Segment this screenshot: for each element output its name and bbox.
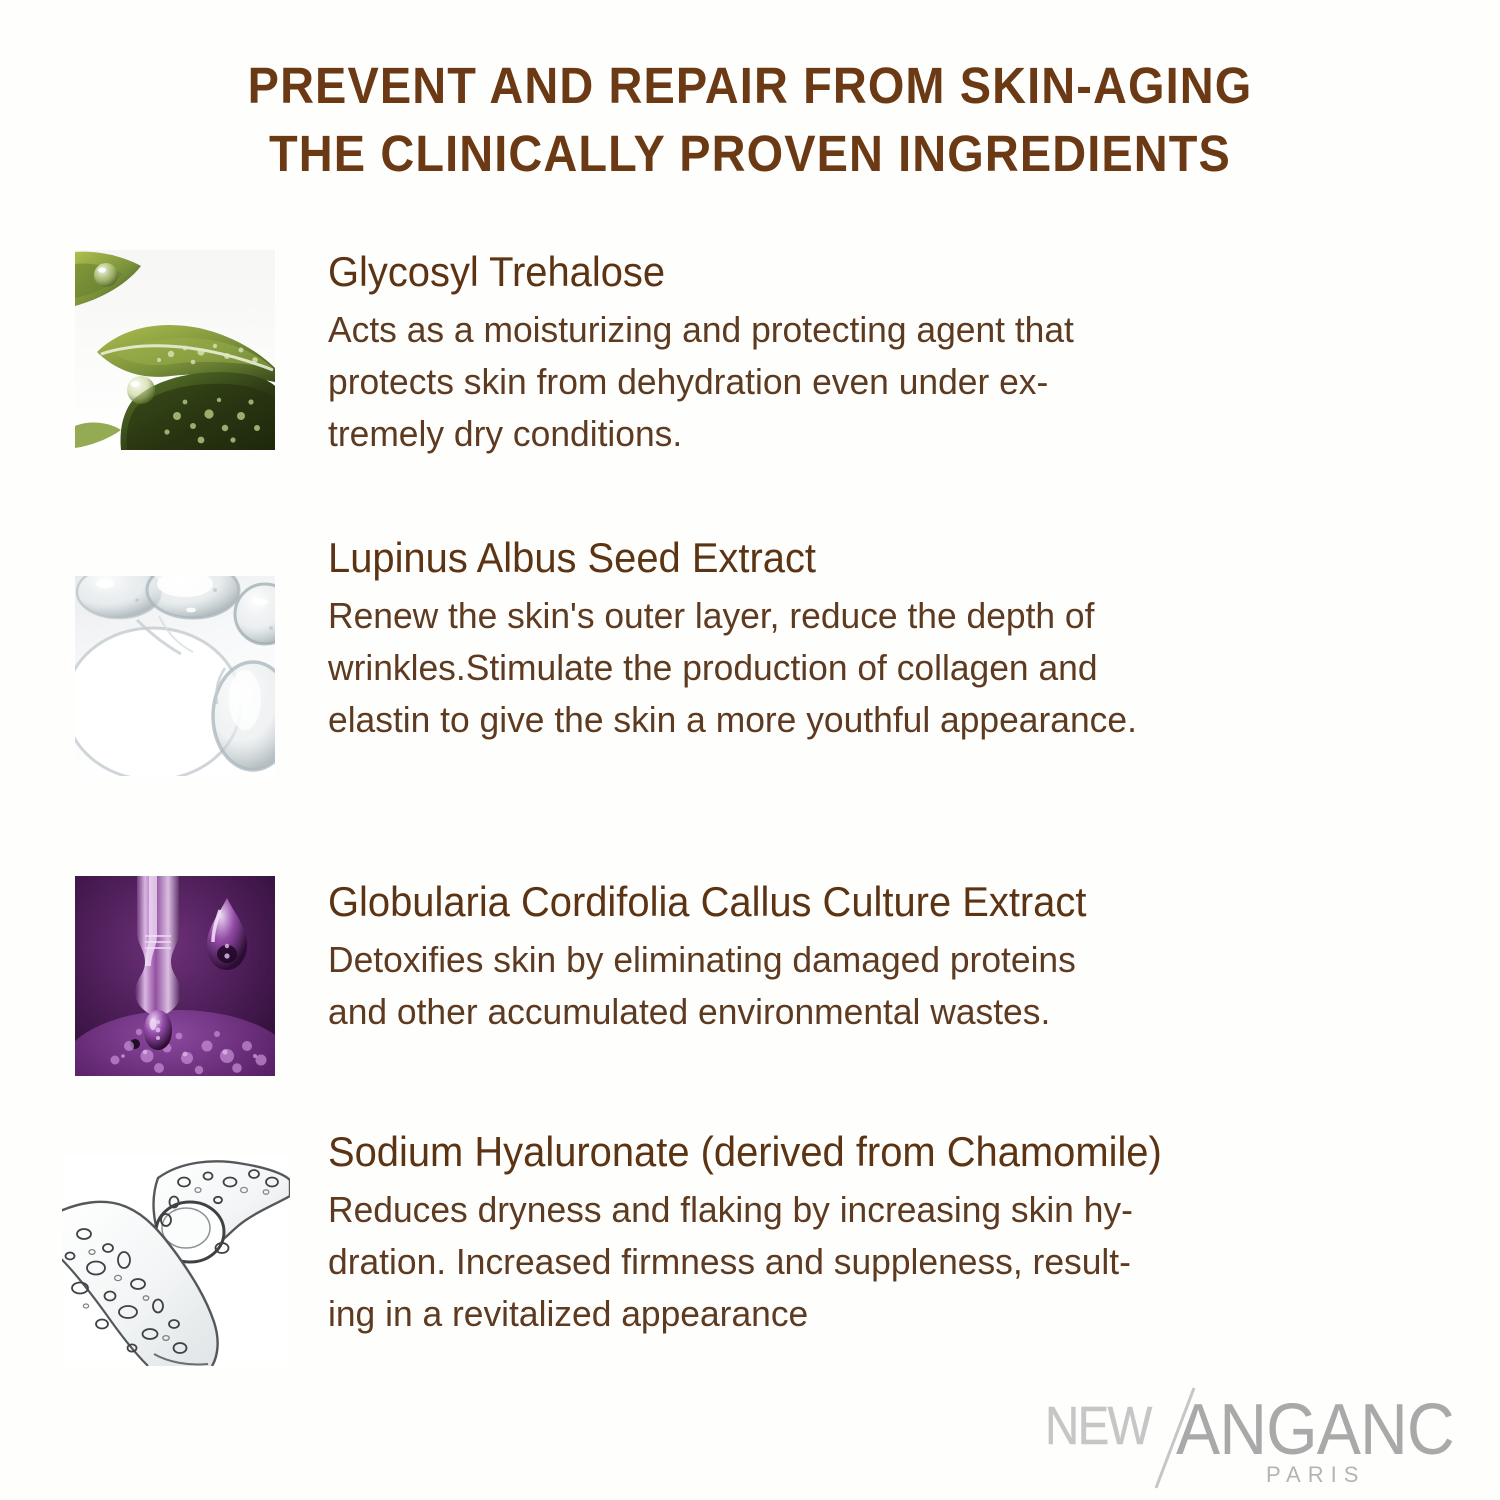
green-leaf-water-droplets-photo	[75, 250, 275, 450]
description-line: and other accumulated environmental wast…	[328, 986, 1429, 1038]
ingredient-name: Lupinus Albus Seed Extract	[328, 532, 1406, 584]
page-title-line-2: THE CLINICALLY PROVEN INGREDIENTS	[60, 120, 1440, 188]
brand-logo: NEW ANGANCE PARIS	[1038, 1382, 1458, 1492]
ingredient-description: Acts as a moisturizing and protecting ag…	[328, 304, 1429, 460]
description-line: elastin to give the skin a more youthful…	[328, 694, 1429, 746]
ingredient-description: Renew the skin's outer layer, reduce the…	[328, 590, 1429, 746]
ingredient-description: Reduces dryness and flaking by increasin…	[328, 1184, 1429, 1340]
description-line: Reduces dryness and flaking by increasin…	[328, 1184, 1429, 1236]
logo-word-new: NEW	[1045, 1395, 1152, 1456]
clear-bubbles-white-gel-photo	[75, 576, 275, 776]
purple-ampoule-droplet-photo	[75, 876, 275, 1076]
page-title-line-1: PREVENT AND REPAIR FROM SKIN-AGING	[60, 52, 1440, 120]
description-line: dration. Increased firmness and supplene…	[328, 1236, 1429, 1288]
description-line: Acts as a moisturizing and protecting ag…	[328, 304, 1429, 356]
ingredient-copy: Lupinus Albus Seed Extract Renew the ski…	[328, 532, 1463, 746]
logo-word-paris: PARIS	[1266, 1462, 1365, 1487]
ingredient-copy: Globularia Cordifolia Callus Culture Ext…	[328, 876, 1463, 1038]
ingredient-description: Detoxifies skin by eliminating damaged p…	[328, 934, 1429, 1038]
logo-word-angance: ANGANCE	[1176, 1388, 1458, 1469]
description-line: wrinkles.Stimulate the production of col…	[328, 642, 1429, 694]
ingredient-copy: Glycosyl Trehalose Acts as a moisturizin…	[328, 246, 1463, 460]
description-line: Renew the skin's outer layer, reduce the…	[328, 590, 1429, 642]
description-line: Detoxifies skin by eliminating damaged p…	[328, 934, 1429, 986]
ingredient-copy: Sodium Hyaluronate (derived from Chamomi…	[328, 1126, 1463, 1340]
ingredient-name: Sodium Hyaluronate (derived from Chamomi…	[328, 1126, 1406, 1178]
description-line: protects skin from dehydration even unde…	[328, 356, 1429, 408]
ingredient-name: Glycosyl Trehalose	[328, 246, 1406, 298]
page-title: PREVENT AND REPAIR FROM SKIN-AGING THE C…	[0, 52, 1500, 188]
description-line: tremely dry conditions.	[328, 408, 1429, 460]
ingredient-infographic: PREVENT AND REPAIR FROM SKIN-AGING THE C…	[0, 0, 1500, 1500]
clear-serum-gel-bubbles-photo	[62, 1156, 290, 1366]
ingredient-name: Globularia Cordifolia Callus Culture Ext…	[328, 876, 1406, 928]
description-line: ing in a revitalized appearance	[328, 1288, 1429, 1340]
